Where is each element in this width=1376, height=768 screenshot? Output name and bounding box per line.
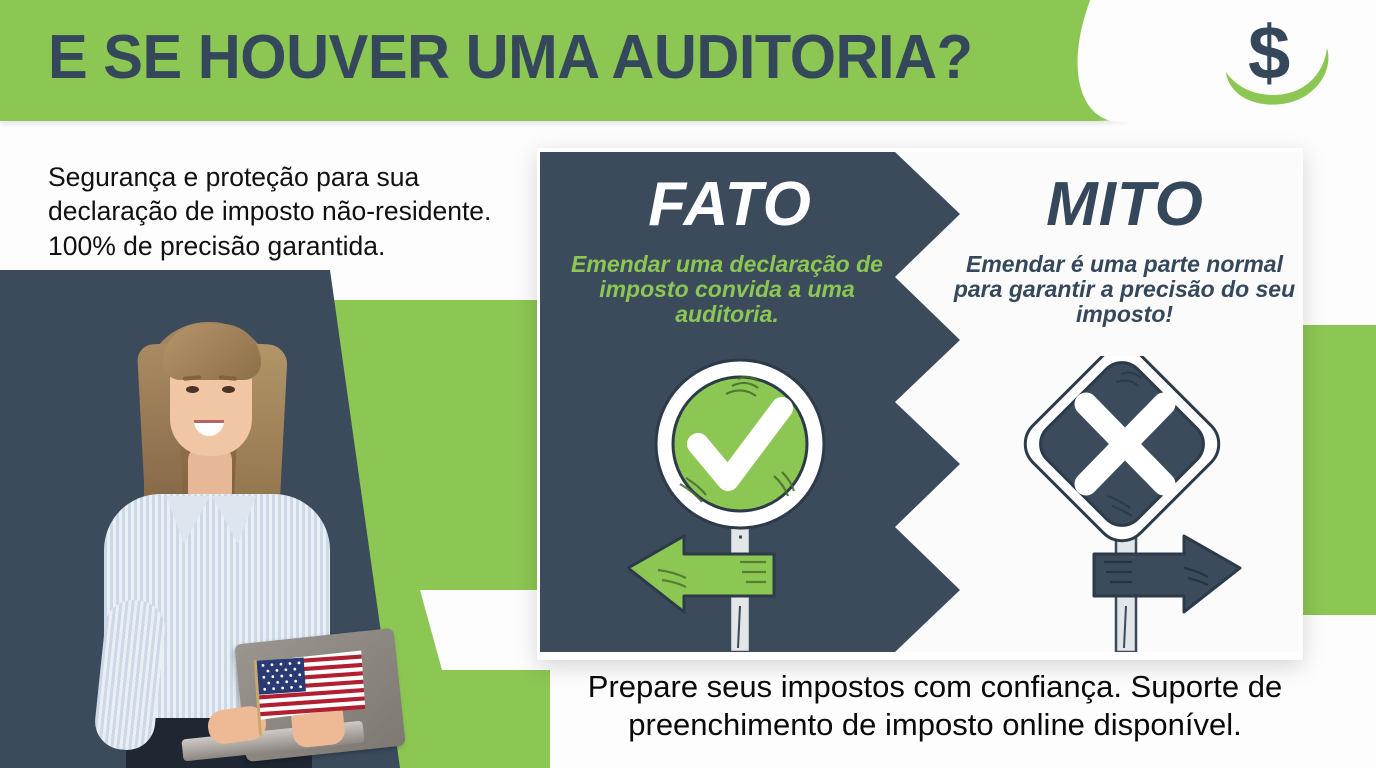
fact-heading: FATO bbox=[560, 174, 900, 236]
white-gap-shape bbox=[420, 590, 550, 670]
infographic-poster: E SE HOUVER UMA AUDITORIA? $ Segurança e… bbox=[0, 0, 1376, 768]
dollar-sign-icon: $ bbox=[1248, 16, 1290, 92]
usa-flag-icon bbox=[253, 648, 370, 736]
fact-subtext: Emendar uma declaração de imposto convid… bbox=[562, 252, 892, 326]
intro-text: Segurança e proteção para sua declaração… bbox=[48, 160, 548, 263]
right-green-block bbox=[1300, 325, 1376, 615]
page-title: E SE HOUVER UMA AUDITORIA? bbox=[48, 22, 972, 93]
eye-left bbox=[186, 386, 199, 393]
x-mark-road-sign-icon bbox=[1008, 356, 1248, 652]
bottom-caption: Prepare seus impostos com confiança. Sup… bbox=[520, 668, 1350, 744]
check-mark-road-sign-icon bbox=[622, 356, 862, 652]
myth-heading: MITO bbox=[960, 174, 1290, 236]
woman-holding-laptop-photo bbox=[60, 300, 400, 768]
eye-right bbox=[222, 386, 235, 393]
brand-logo: $ bbox=[1222, 14, 1340, 110]
myth-subtext: Emendar é uma parte normal para garantir… bbox=[952, 252, 1297, 326]
hair-fringe bbox=[163, 324, 261, 380]
fact-vs-myth-card: FATO Emendar uma declaração de imposto c… bbox=[540, 152, 1300, 652]
